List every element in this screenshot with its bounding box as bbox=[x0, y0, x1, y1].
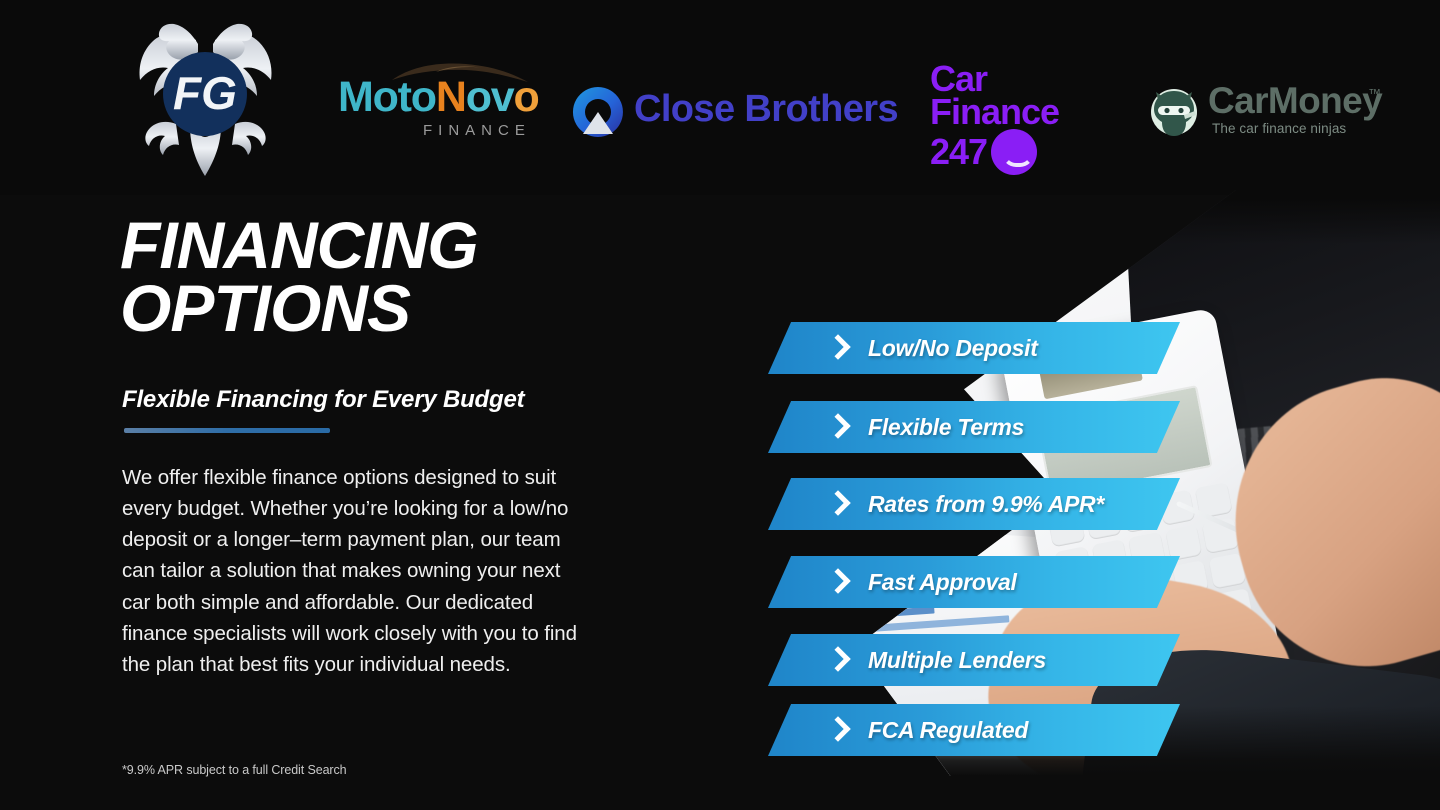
feature-banner-fca-regulated[interactable]: FCA Regulated bbox=[768, 704, 1180, 756]
feature-label: Low/No Deposit bbox=[868, 335, 1038, 362]
chevron-right-icon bbox=[824, 717, 850, 743]
feature-banner-multiple-lenders[interactable]: Multiple Lenders bbox=[768, 634, 1180, 686]
feature-label: Rates from 9.9% APR* bbox=[868, 491, 1104, 518]
chevron-right-icon bbox=[824, 647, 850, 673]
feature-banner-fast-approval[interactable]: Fast Approval bbox=[768, 556, 1180, 608]
feature-label: Fast Approval bbox=[868, 569, 1017, 596]
feature-banner-flexible-terms[interactable]: Flexible Terms bbox=[768, 401, 1180, 453]
chevron-right-icon bbox=[824, 569, 850, 595]
feature-banner-list: Low/No Deposit Flexible Terms Rates from… bbox=[0, 0, 1440, 810]
feature-banner-rates-from-apr[interactable]: Rates from 9.9% APR* bbox=[768, 478, 1180, 530]
feature-label: Multiple Lenders bbox=[868, 647, 1046, 674]
chevron-right-icon bbox=[824, 491, 850, 517]
chevron-right-icon bbox=[824, 335, 850, 361]
feature-banner-low-no-deposit[interactable]: Low/No Deposit bbox=[768, 322, 1180, 374]
slide-canvas: FG MotoNovo FINANCE bbox=[0, 0, 1440, 810]
chevron-right-icon bbox=[824, 414, 850, 440]
feature-label: Flexible Terms bbox=[868, 414, 1024, 441]
feature-label: FCA Regulated bbox=[868, 717, 1028, 744]
